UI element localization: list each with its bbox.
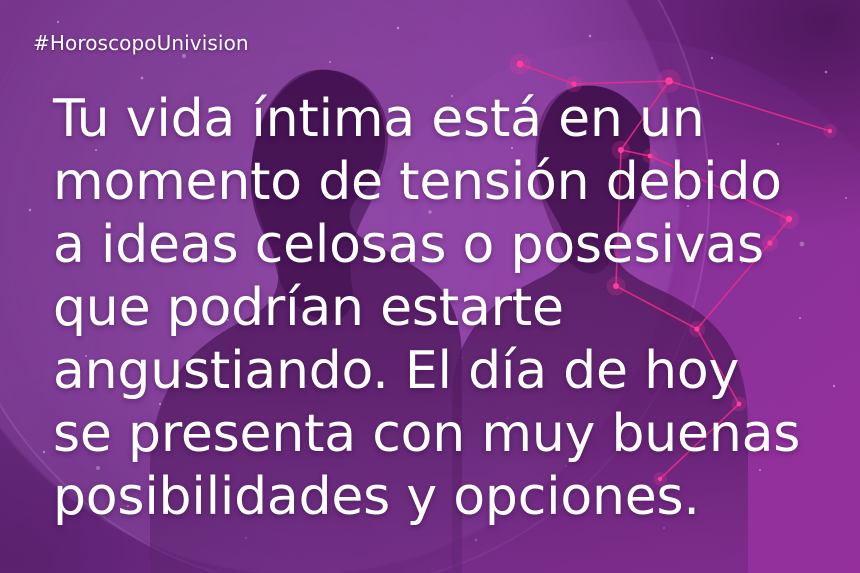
quote-line: se presenta con muy buenas [53,403,853,466]
horoscope-quote-card: #HoroscopoUnivision Tu vida íntima está … [0,0,860,573]
content-layer: #HoroscopoUnivision Tu vida íntima está … [0,0,860,573]
hashtag-label: #HoroscopoUnivision [33,31,249,55]
quote-line: a ideas celosas o posesivas [53,214,853,277]
quote-line: posibilidades y opciones. [53,466,853,529]
quote-line: angustiando. El día de hoy [53,340,853,403]
quote-line: Tu vida íntima está en un [53,88,853,151]
quote-line: momento de tensión debido [53,151,853,214]
quote-line: que podrían estarte [53,277,853,340]
horoscope-quote-text: Tu vida íntima está en un momento de ten… [53,88,853,529]
